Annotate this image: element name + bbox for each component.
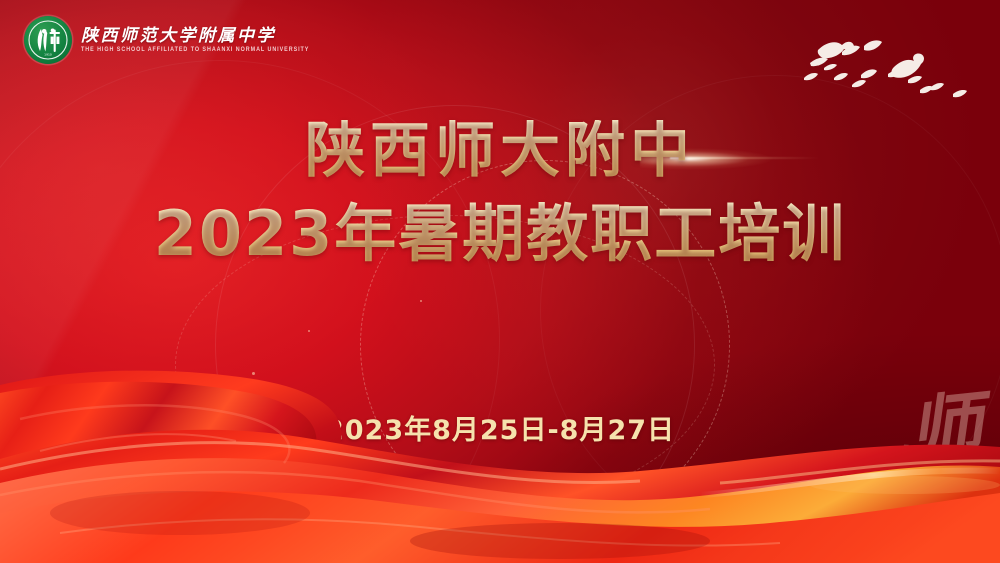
event-date-range: 2023年8月25日-8月27日 bbox=[0, 408, 1000, 447]
calligraphy-char: 师 bbox=[960, 505, 1000, 545]
sparkle-dot bbox=[308, 330, 310, 332]
sparkle-dot bbox=[420, 300, 422, 302]
school-name-chinese: 陕西师范大学附属中学 bbox=[81, 27, 309, 46]
school-name-english: THE HIGH SCHOOL AFFILIATED TO SHAANXI NO… bbox=[81, 47, 309, 54]
flying-doves-icon bbox=[790, 18, 990, 118]
svg-text:1910: 1910 bbox=[44, 53, 52, 57]
poster-canvas: 1910 陕西师范大学附属中学 THE HIGH SCHOOL AFFILIAT… bbox=[0, 0, 1000, 563]
calligraphy-char: 师 bbox=[881, 444, 929, 492]
poster-title-block: 陕西师大附中 2023年暑期教职工培训 bbox=[0, 120, 1000, 266]
calligraphy-char: 师 bbox=[829, 458, 861, 490]
calligraphy-char: 师 bbox=[785, 539, 815, 563]
page-title-line-2: 2023年暑期教职工培训 bbox=[0, 201, 1000, 267]
calligraphy-watermark-group: 师 师 师 师 师 师 师 师 bbox=[770, 363, 1000, 563]
calligraphy-char: 师 bbox=[814, 505, 851, 542]
page-title-line-1: 陕西师大附中 bbox=[0, 120, 1000, 184]
red-silk-ribbon-icon bbox=[0, 363, 1000, 563]
school-name-block: 陕西师范大学附属中学 THE HIGH SCHOOL AFFILIATED TO… bbox=[81, 27, 309, 54]
background-diagonal-highlight bbox=[0, 0, 1000, 563]
school-branding-header: 1910 陕西师范大学附属中学 THE HIGH SCHOOL AFFILIAT… bbox=[24, 16, 309, 64]
school-logo-icon: 1910 bbox=[24, 16, 72, 64]
calligraphy-char: 师 bbox=[874, 491, 943, 560]
sparkle-dot bbox=[252, 372, 255, 375]
background-sheen bbox=[0, 0, 1000, 563]
calligraphy-char: 师 bbox=[966, 477, 993, 504]
